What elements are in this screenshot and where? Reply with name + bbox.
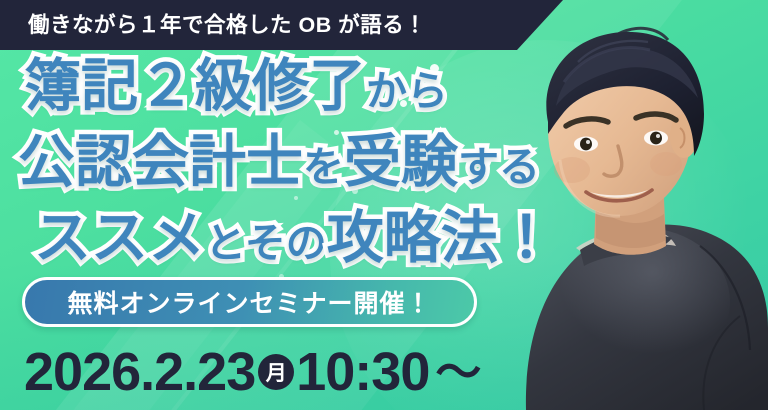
headline-line-1-suffix: から <box>366 68 448 114</box>
headline-line-3-connector: とその <box>205 220 327 266</box>
headline-line-3: ススメとその攻略法！ <box>34 210 555 267</box>
event-time: 10:30 <box>296 345 429 399</box>
headline-line-2-suffix: する <box>458 144 540 190</box>
decorative-dot <box>294 196 298 200</box>
seminar-badge[interactable]: 無料オンラインセミナー開催！ <box>22 277 477 327</box>
headline-line-3-tail: 攻略法！ <box>327 206 555 270</box>
headline-line-1-main: 簿記２級修了 <box>24 54 366 118</box>
seminar-banner: 働きながら１年で合格した OB が語る！ 簿記２級修了から 公認会計士を受験する… <box>0 0 768 410</box>
headline-line-2-verb: 受験 <box>344 130 458 194</box>
weekday-badge: 月 <box>258 354 294 390</box>
seminar-badge-label: 無料オンラインセミナー開催！ <box>67 284 431 320</box>
headline-line-2-particle: を <box>303 144 344 190</box>
top-ribbon-text: 働きながら１年で合格した OB が語る！ <box>28 0 426 50</box>
top-ribbon: 働きながら１年で合格した OB が語る！ <box>0 0 563 50</box>
headline-line-1: 簿記２級修了から <box>24 58 448 115</box>
headline-line-2: 公認会計士を受験する <box>18 134 540 191</box>
event-date: 2026.2.23 <box>24 345 255 399</box>
time-tilde: 〜 <box>435 349 481 395</box>
headline-line-2-main: 公認会計士 <box>18 130 303 194</box>
date-time-row: 2026.2.23 月 10:30 〜 <box>24 337 481 407</box>
headline-line-3-main: ススメ <box>34 206 205 270</box>
